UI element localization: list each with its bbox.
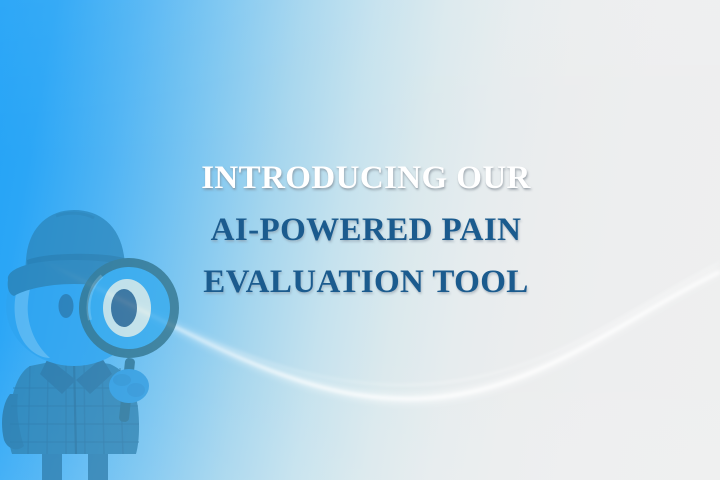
headline-line-2: AI-POWERED PAIN [196,204,536,256]
magnifying-glass [79,258,179,358]
detective-mascot [0,198,211,480]
promo-banner: INTRODUCING OUR AI-POWERED PAIN EVALUATI… [0,0,720,480]
magnified-pupil [111,289,137,327]
headline-line-1: INTRODUCING OUR [196,152,536,204]
eye [59,294,74,318]
headline-block: INTRODUCING OUR AI-POWERED PAIN EVALUATI… [196,152,536,308]
headline-line-3: EVALUATION TOOL [196,256,536,308]
gripping-hand [109,369,149,403]
